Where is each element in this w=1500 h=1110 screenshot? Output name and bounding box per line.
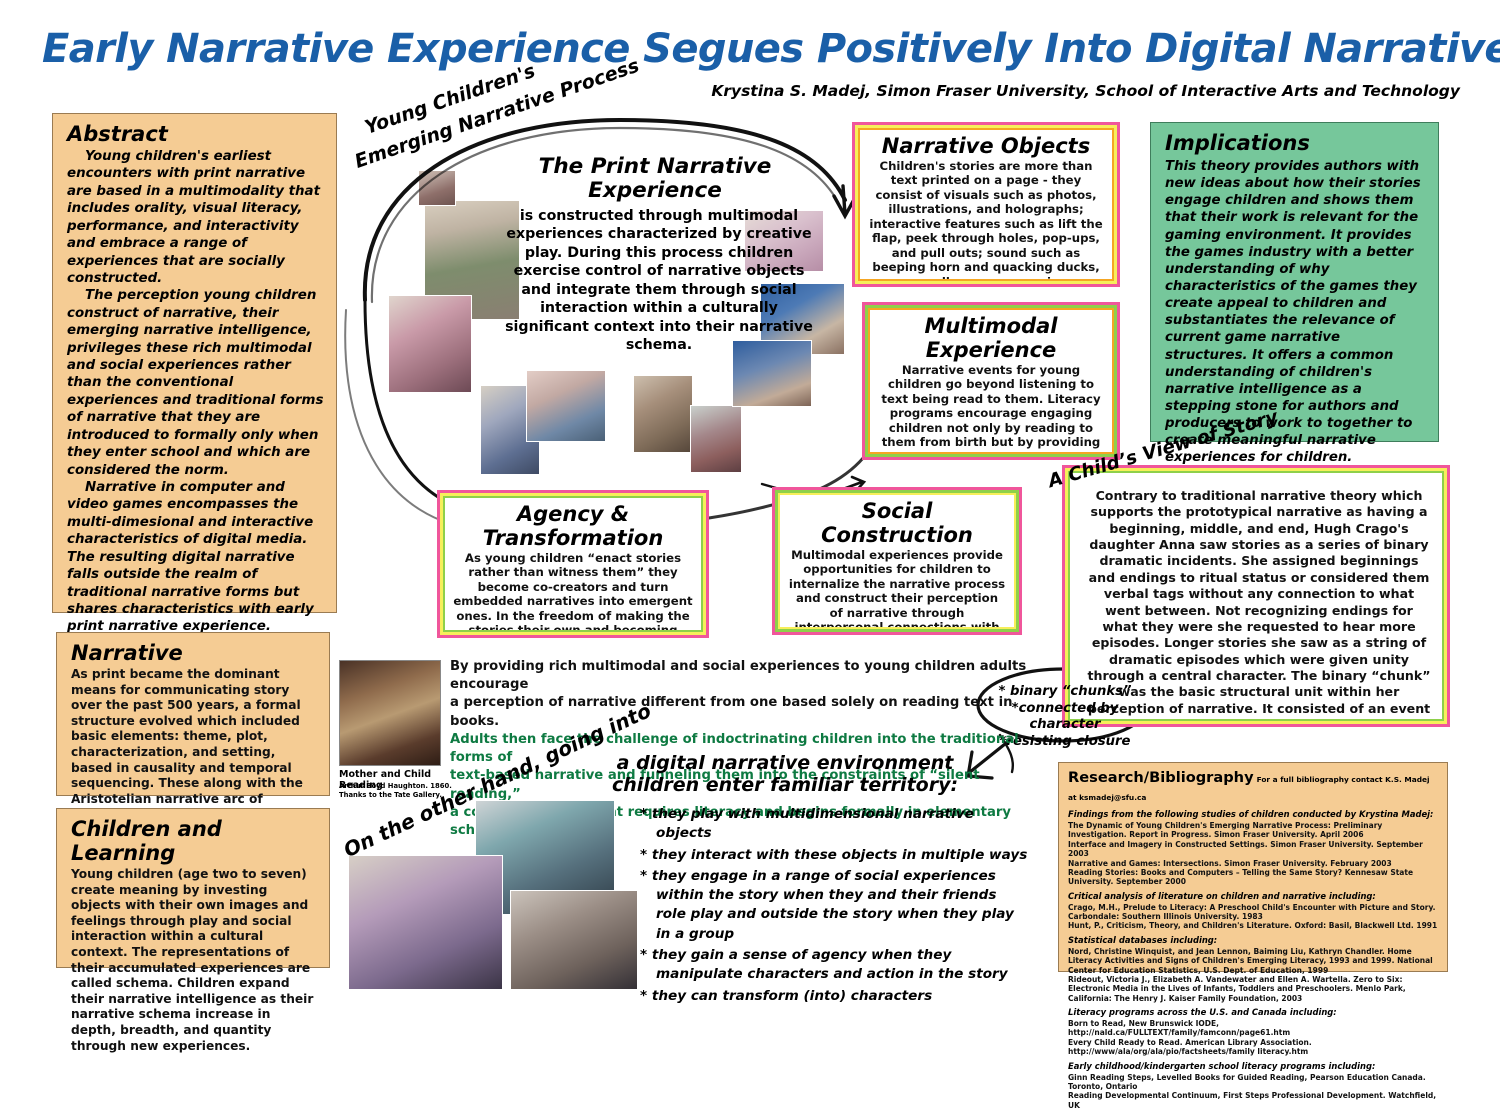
- abstract-paragraph: Narrative in computer and video games en…: [67, 479, 324, 636]
- digital-narrative-heading: a digital narrative environment children…: [560, 752, 1010, 797]
- implications-body: This theory provides authors with new id…: [1165, 158, 1425, 467]
- narrative-objects-card: Narrative Objects Children's stories are…: [852, 122, 1120, 287]
- bib-entry: Crago, M.H., Prelude to Literacy: A Pres…: [1068, 903, 1439, 922]
- bibliography-title: Research/Bibliography: [1068, 769, 1254, 786]
- list-item: * they can transform (into) characters: [656, 987, 1030, 1006]
- child-view-content: Contrary to traditional narrative theory…: [1071, 474, 1441, 718]
- agency-transformation-card: Agency & Transformation As young childre…: [437, 490, 709, 638]
- page-title: Early Narrative Experience Segues Positi…: [42, 26, 1462, 72]
- social-construction-card: Social Construction Multimodal experienc…: [772, 487, 1022, 635]
- print-narrative-body: is constructed through multimodal experi…: [500, 207, 818, 355]
- list-item: * they play with multidimensional narrat…: [656, 805, 1030, 844]
- conclusion-black-line: a perception of narrative different from…: [450, 694, 1030, 730]
- children-learning-heading: Children and Learning: [71, 817, 317, 865]
- abstract-panel: Abstract Young children's earliest encou…: [52, 113, 337, 613]
- multimodal-experience-card: Multimodal Experience Narrative events f…: [862, 302, 1120, 460]
- social-construction-body: Multimodal experiences provide opportuni…: [788, 548, 1006, 627]
- multimodal-experience-content: Multimodal Experience Narrative events f…: [870, 310, 1112, 452]
- list-item: * they interact with these objects in mu…: [656, 846, 1030, 865]
- abstract-heading: Abstract: [67, 122, 324, 146]
- photo-children-painting: [388, 295, 472, 393]
- children-learning-body: Young children (age two to seven) create…: [71, 867, 317, 1054]
- bib-entry: Hunt, P., Criticism, Theory, and Childre…: [1068, 921, 1439, 930]
- narrative-panel: Narrative As print became the dominant m…: [56, 632, 330, 796]
- narrative-heading: Narrative: [71, 641, 317, 665]
- multimodal-experience-body: Narrative events for young children go b…: [878, 363, 1104, 452]
- bib-section-heading: Findings from the following studies of c…: [1068, 809, 1439, 819]
- bib-entry: Rideout, Victoria J., Elizabeth A. Vande…: [1068, 975, 1439, 1003]
- social-construction-content: Social Construction Multimodal experienc…: [780, 495, 1014, 627]
- digital-narrative-bullets: * they play with multidimensional narrat…: [640, 805, 1030, 1008]
- photo-corner-thumb: [418, 170, 456, 206]
- abstract-paragraph: The perception young children construct …: [67, 287, 324, 479]
- narrative-objects-content: Narrative Objects Children's stories are…: [860, 130, 1112, 279]
- agency-transformation-content: Agency & Transformation As young childre…: [445, 498, 701, 630]
- implications-panel: Implications This theory provides author…: [1150, 122, 1439, 442]
- conclusion-black-line: By providing rich multimodal and social …: [450, 658, 1030, 694]
- photo-two-children-laptop: [510, 890, 638, 990]
- list-item: * they engage in a range of social exper…: [656, 867, 1030, 944]
- agency-transformation-heading: Agency & Transformation: [453, 502, 693, 550]
- bib-section-heading: Literacy programs across the U.S. and Ca…: [1068, 1007, 1439, 1017]
- print-narrative-heading-line2: Experience: [520, 179, 790, 203]
- digital-heading-line1: a digital narrative environment: [560, 752, 1010, 774]
- bibliography-panel: Research/BibliographyFor a full bibliogr…: [1058, 762, 1448, 972]
- bib-entry: Reading Developmental Continuum, First S…: [1068, 1091, 1439, 1110]
- multimodal-experience-heading: Multimodal Experience: [878, 314, 1104, 362]
- photo-mother-and-child-reading: [339, 660, 441, 766]
- bib-section-heading: Critical analysis of literature on child…: [1068, 891, 1439, 901]
- bib-entry: Narrative and Games: Intersections. Simo…: [1068, 859, 1439, 868]
- bib-entry: Interface and Imagery in Constructed Set…: [1068, 840, 1439, 859]
- bib-entry: Every Child Ready to Read. American Libr…: [1068, 1038, 1439, 1057]
- photo-children-at-desk: [690, 405, 742, 473]
- agency-transformation-body: As young children “enact stories rather …: [453, 551, 693, 630]
- list-item: * they gain a sense of agency when they …: [656, 946, 1030, 985]
- photo-reading-together: [633, 375, 693, 453]
- narrative-objects-heading: Narrative Objects: [868, 134, 1104, 158]
- print-narrative-heading: The Print Narrative Experience: [520, 155, 790, 203]
- social-construction-heading: Social Construction: [788, 499, 1006, 547]
- bib-entry: Nord, Christine Winquist, and Jean Lenno…: [1068, 947, 1439, 975]
- narrative-objects-body: Children's stories are more than text pr…: [868, 159, 1104, 279]
- bullet-list: * they play with multidimensional narrat…: [640, 805, 1030, 1006]
- poster-canvas: Early Narrative Experience Segues Positi…: [0, 0, 1500, 1034]
- implications-heading: Implications: [1165, 131, 1425, 155]
- bib-entry: The Dynamic of Young Children's Emerging…: [1068, 821, 1439, 840]
- photo-classroom-group: [526, 370, 606, 442]
- digital-heading-line2: children enter familiar territory:: [560, 774, 1010, 796]
- abstract-paragraph: Young children's earliest encounters wit…: [67, 148, 324, 287]
- bibliography-header: Research/BibliographyFor a full bibliogr…: [1068, 769, 1439, 805]
- bib-section-heading: Early childhood/kindergarten school lite…: [1068, 1061, 1439, 1071]
- bib-entry: Born to Read, New Brunswick IODE, http:/…: [1068, 1019, 1439, 1038]
- print-narrative-heading-line1: The Print Narrative: [520, 155, 790, 179]
- photo-mother-daughter-laptop: [348, 855, 503, 990]
- bib-entry: Reading Stories: Books and Computers – T…: [1068, 868, 1439, 887]
- bib-section-heading: Statistical databases including:: [1068, 935, 1439, 945]
- bib-entry: Ginn Reading Steps, Levelled Books for G…: [1068, 1073, 1439, 1092]
- children-learning-panel: Children and Learning Young children (ag…: [56, 808, 330, 968]
